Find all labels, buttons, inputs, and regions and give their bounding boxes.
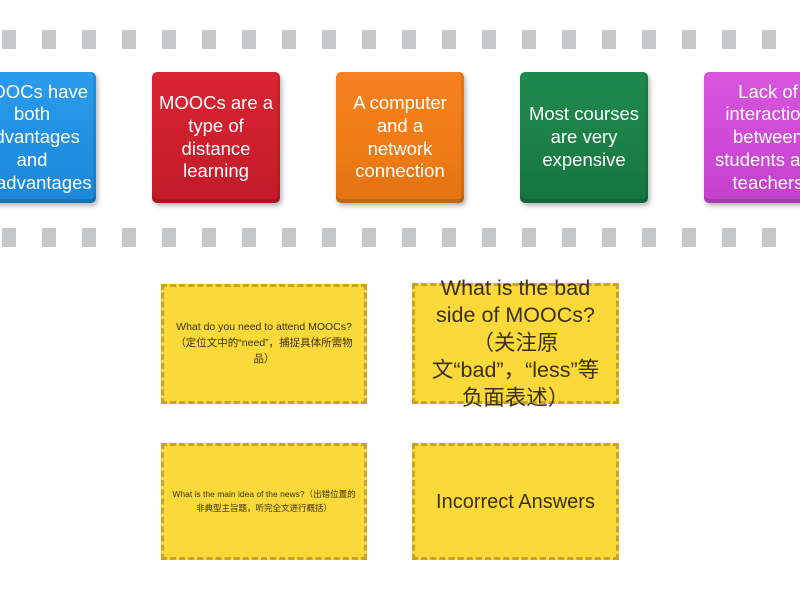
question-card-bad-side[interactable]: What is the bad side of MOOCs?（关注原文“bad”… xyxy=(412,283,619,404)
question-card-label: What is the main idea of the news?（出错位置的… xyxy=(172,488,356,515)
question-card-label: Incorrect Answers xyxy=(423,489,608,515)
match-up-activity-stage: MOOCs have both advantages and disadvant… xyxy=(0,0,800,600)
question-card-need[interactable]: What do you need to attend MOOCs?（定位文中的“… xyxy=(161,284,367,404)
question-card-grid: What do you need to attend MOOCs?（定位文中的“… xyxy=(0,0,800,600)
question-card-incorrect-answers[interactable]: Incorrect Answers xyxy=(412,443,619,560)
question-card-label: What do you need to attend MOOCs?（定位文中的“… xyxy=(172,320,356,367)
question-card-main-idea[interactable]: What is the main idea of the news?（出错位置的… xyxy=(161,443,367,560)
question-card-label: What is the bad side of MOOCs?（关注原文“bad”… xyxy=(423,275,608,413)
